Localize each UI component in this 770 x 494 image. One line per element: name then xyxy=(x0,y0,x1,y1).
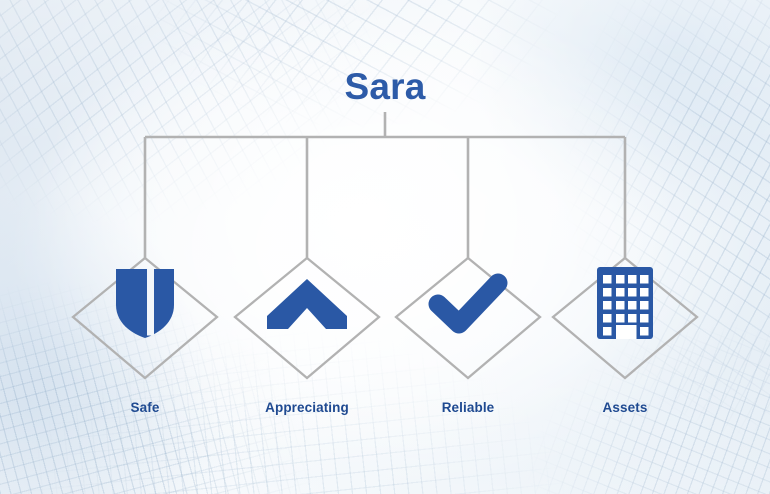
node-label-assets: Assets xyxy=(515,400,735,415)
infographic-canvas: Sara Safe Ap xyxy=(0,0,770,494)
shield-icon xyxy=(112,265,178,341)
node-assets[interactable]: Assets xyxy=(545,252,705,412)
node-reliable[interactable]: Reliable xyxy=(388,252,548,412)
node-appreciating[interactable]: Appreciating xyxy=(227,252,387,412)
chevron-up-icon xyxy=(267,279,347,329)
page-title: Sara xyxy=(0,68,770,105)
building-icon xyxy=(597,267,653,339)
node-safe[interactable]: Safe xyxy=(65,252,225,412)
check-icon xyxy=(428,273,508,335)
